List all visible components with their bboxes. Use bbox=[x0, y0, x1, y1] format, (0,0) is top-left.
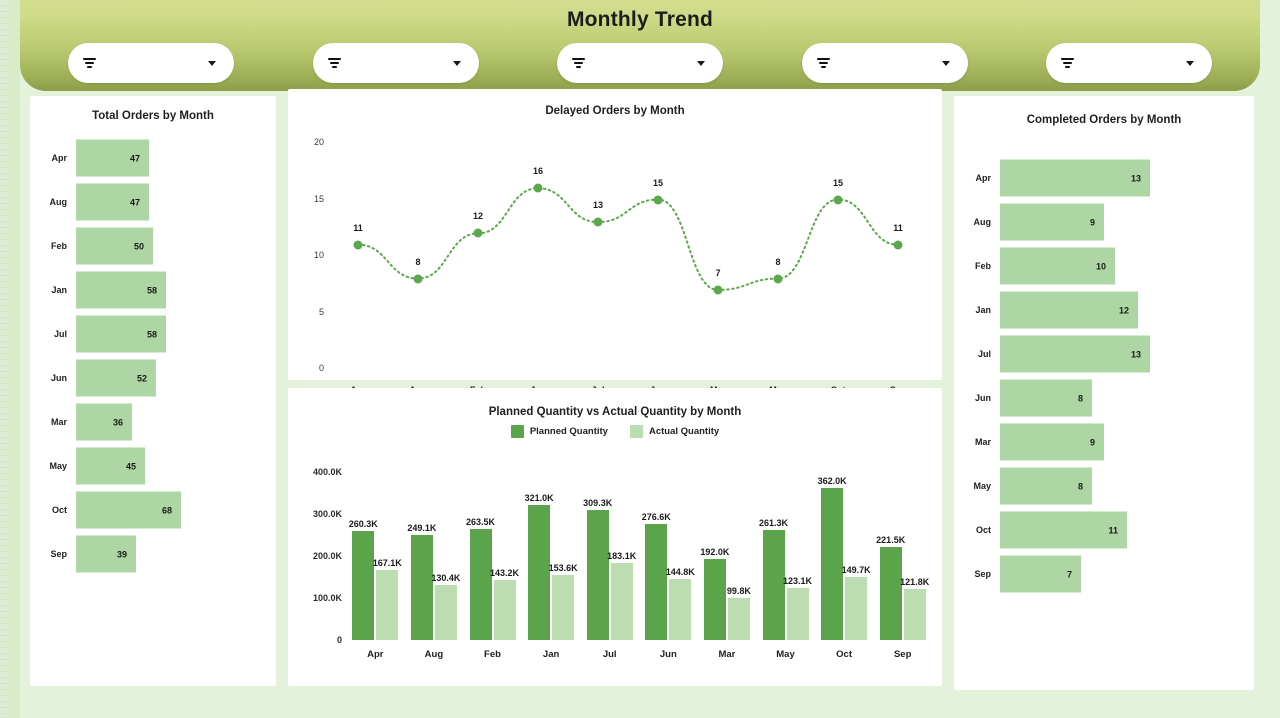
bar-group: 221.5K121.8K bbox=[880, 547, 926, 640]
bar-track: 8 bbox=[1000, 376, 1254, 420]
bar[interactable]: 309.3K bbox=[587, 510, 609, 640]
bar-category-label: Oct bbox=[30, 505, 76, 515]
bar-value-label: 50 bbox=[134, 241, 153, 251]
chart-legend: Planned QuantityActual Quantity bbox=[288, 425, 942, 438]
bar-value-label: 11 bbox=[1108, 525, 1127, 535]
y-axis-tick: 300.0K bbox=[294, 509, 342, 519]
bar[interactable]: 149.7K bbox=[845, 577, 867, 640]
bar-value-label: 261.3K bbox=[759, 518, 788, 528]
bar-row[interactable]: Jul13 bbox=[954, 332, 1254, 376]
line-data-point[interactable] bbox=[534, 184, 543, 193]
bar-row[interactable]: Feb50 bbox=[30, 224, 276, 268]
x-axis-tick: Jan bbox=[543, 649, 559, 660]
bar-row[interactable]: Feb10 bbox=[954, 244, 1254, 288]
bar-value-label: 144.8K bbox=[666, 567, 695, 577]
bar-category-label: Jun bbox=[954, 393, 1000, 403]
bar[interactable]: 99.8K bbox=[728, 598, 750, 640]
panel-title-total-orders: Total Orders by Month bbox=[30, 96, 276, 122]
bar-track: 13 bbox=[1000, 156, 1254, 200]
x-axis-tick: Sep bbox=[894, 649, 911, 660]
bar-value-label: 47 bbox=[130, 153, 149, 163]
dashboard-header: Monthly Trend bbox=[20, 0, 1260, 91]
panel-title-planned-vs-actual: Planned Quantity vs Actual Quantity by M… bbox=[288, 388, 942, 418]
filter-icon bbox=[571, 56, 586, 70]
bar-row[interactable]: Mar9 bbox=[954, 420, 1254, 464]
bar[interactable]: 68 bbox=[76, 492, 181, 529]
bar-row[interactable]: Jun8 bbox=[954, 376, 1254, 420]
bar-value-label: 153.6K bbox=[549, 563, 578, 573]
x-axis-tick: Jul bbox=[603, 649, 617, 660]
bar-value-label: 121.8K bbox=[900, 577, 929, 587]
bar-track: 9 bbox=[1000, 420, 1254, 464]
bar[interactable]: 144.8K bbox=[669, 579, 691, 640]
bar-row[interactable]: Jan12 bbox=[954, 288, 1254, 332]
bar-category-label: Apr bbox=[954, 173, 1000, 183]
bar-category-label: Aug bbox=[954, 217, 1000, 227]
panel-title-delayed-orders: Delayed Orders by Month bbox=[288, 89, 942, 117]
bar[interactable]: 249.1K bbox=[411, 535, 433, 640]
legend-item[interactable]: Planned Quantity bbox=[511, 425, 608, 438]
bar-track: 39 bbox=[76, 532, 276, 576]
bar[interactable]: 260.3K bbox=[352, 531, 374, 640]
bar-track: 50 bbox=[76, 224, 276, 268]
filter-value[interactable] bbox=[1182, 61, 1198, 66]
bar-track: 10 bbox=[1000, 244, 1254, 288]
bar-value-label: 260.3K bbox=[349, 519, 378, 529]
page-edge-strip bbox=[0, 0, 8, 718]
bar-category-label: Apr bbox=[30, 153, 76, 163]
bar-value-label: 221.5K bbox=[876, 535, 905, 545]
bar[interactable]: 39 bbox=[76, 536, 136, 573]
filter-bar bbox=[20, 43, 1260, 85]
chart-planned-vs-actual-quantity: 0100.0K200.0K300.0K400.0K260.3K167.1KApr… bbox=[288, 446, 942, 666]
bar-value-label: 263.5K bbox=[466, 517, 495, 527]
data-point-label: 15 bbox=[833, 178, 843, 188]
bar-group: 309.3K183.1K bbox=[587, 510, 633, 640]
bar-track: 58 bbox=[76, 312, 276, 356]
bar-value-label: 36 bbox=[113, 417, 132, 427]
data-point-label: 7 bbox=[715, 268, 720, 278]
bar-category-label: Sep bbox=[30, 549, 76, 559]
line-data-point[interactable] bbox=[774, 274, 783, 283]
filter-value[interactable] bbox=[449, 61, 465, 66]
bar[interactable]: 130.4K bbox=[435, 585, 457, 640]
line-data-point[interactable] bbox=[654, 195, 663, 204]
chart-delayed-orders-by-month: 0510152011Apr8Aug12Feb16Jan13Jul15Jun7Ma… bbox=[288, 117, 942, 387]
data-point-label: 13 bbox=[593, 200, 603, 210]
bar-category-label: Feb bbox=[30, 241, 76, 251]
bar-value-label: 12 bbox=[1119, 305, 1138, 315]
y-axis-tick: 0 bbox=[294, 635, 342, 645]
data-point-label: 15 bbox=[653, 178, 663, 188]
bar-row[interactable]: Mar36 bbox=[30, 400, 276, 444]
x-axis-tick: May bbox=[776, 649, 794, 660]
bar[interactable]: 9 bbox=[1000, 424, 1104, 461]
y-axis-tick: 400.0K bbox=[294, 467, 342, 477]
bar-row[interactable]: Sep7 bbox=[954, 552, 1254, 596]
bar-value-label: 143.2K bbox=[490, 568, 519, 578]
bar-track: 7 bbox=[1000, 552, 1254, 596]
filter-pill-planner-n[interactable] bbox=[1046, 43, 1212, 83]
bar-value-label: 321.0K bbox=[525, 493, 554, 503]
filter-pill-category[interactable] bbox=[68, 43, 234, 83]
bar-value-label: 68 bbox=[162, 505, 181, 515]
bar-category-label: Sep bbox=[954, 569, 1000, 579]
bar-value-label: 52 bbox=[137, 373, 156, 383]
bar-track: 45 bbox=[76, 444, 276, 488]
bar-category-label: Aug bbox=[30, 197, 76, 207]
bar[interactable]: 9 bbox=[1000, 204, 1104, 241]
panel-total-orders: Total Orders by Month Apr47Aug47Feb50Jan… bbox=[30, 96, 276, 686]
bar-value-label: 13 bbox=[1131, 173, 1150, 183]
chevron-down-icon bbox=[208, 61, 216, 66]
bar-row[interactable]: Apr47 bbox=[30, 136, 276, 180]
bar-category-label: Jul bbox=[954, 349, 1000, 359]
bar-category-label: Feb bbox=[954, 261, 1000, 271]
chevron-down-icon bbox=[942, 61, 950, 66]
bar[interactable]: 58 bbox=[76, 316, 166, 353]
bar[interactable]: 183.1K bbox=[611, 563, 633, 640]
bar[interactable]: 7 bbox=[1000, 556, 1081, 593]
bar-value-label: 10 bbox=[1096, 261, 1115, 271]
bar[interactable]: 192.0K bbox=[704, 559, 726, 640]
bar-value-label: 7 bbox=[1067, 569, 1081, 579]
data-point-label: 12 bbox=[473, 211, 483, 221]
bar[interactable]: 321.0K bbox=[528, 505, 550, 640]
bar-value-label: 362.0K bbox=[818, 476, 847, 486]
bar-category-label: Jan bbox=[954, 305, 1000, 315]
page-title: Monthly Trend bbox=[20, 0, 1260, 32]
bar[interactable]: 47 bbox=[76, 140, 149, 177]
bar[interactable]: 221.5K bbox=[880, 547, 902, 640]
bar-category-label: Jun bbox=[30, 373, 76, 383]
bar-value-label: 47 bbox=[130, 197, 149, 207]
bar-category-label: May bbox=[30, 461, 76, 471]
bar-value-label: 99.8K bbox=[727, 586, 751, 596]
bar-value-label: 58 bbox=[147, 285, 166, 295]
data-point-label: 8 bbox=[775, 257, 780, 267]
bar-row[interactable]: Jan58 bbox=[30, 268, 276, 312]
line-data-point[interactable] bbox=[474, 229, 483, 238]
chart-total-orders-by-month: Apr47Aug47Feb50Jan58Jul58Jun52Mar36May45… bbox=[30, 122, 276, 576]
x-axis-tick: Oct bbox=[836, 649, 852, 660]
bar-row[interactable]: Oct68 bbox=[30, 488, 276, 532]
bar[interactable]: 36 bbox=[76, 404, 132, 441]
bar-track: 47 bbox=[76, 136, 276, 180]
data-point-label: 11 bbox=[353, 223, 363, 233]
bar-category-label: Jan bbox=[30, 285, 76, 295]
filter-pill-status[interactable] bbox=[557, 43, 723, 83]
bar-value-label: 167.1K bbox=[373, 558, 402, 568]
bar-category-label: Jul bbox=[30, 329, 76, 339]
bar-track: 47 bbox=[76, 180, 276, 224]
bar-group: 260.3K167.1K bbox=[352, 531, 398, 640]
bar-value-label: 276.6K bbox=[642, 512, 671, 522]
bar-value-label: 309.3K bbox=[583, 498, 612, 508]
bar[interactable]: 12 bbox=[1000, 292, 1138, 329]
bar-track: 36 bbox=[76, 400, 276, 444]
legend-swatch bbox=[630, 425, 643, 438]
bar-value-label: 249.1K bbox=[407, 523, 436, 533]
bar[interactable]: 123.1K bbox=[787, 588, 809, 640]
bar-category-label: May bbox=[954, 481, 1000, 491]
filter-icon bbox=[816, 56, 831, 70]
legend-swatch bbox=[511, 425, 524, 438]
x-axis-tick: Mar bbox=[718, 649, 735, 660]
y-axis-tick: 100.0K bbox=[294, 593, 342, 603]
x-axis-tick: Jun bbox=[660, 649, 677, 660]
bar[interactable]: 167.1K bbox=[376, 570, 398, 640]
bar-category-label: Oct bbox=[954, 525, 1000, 535]
bar-row[interactable]: Aug47 bbox=[30, 180, 276, 224]
chevron-down-icon bbox=[453, 61, 461, 66]
bar-value-label: 45 bbox=[126, 461, 145, 471]
bar-value-label: 9 bbox=[1090, 217, 1104, 227]
bar-track: 13 bbox=[1000, 332, 1254, 376]
bar-row[interactable]: Apr13 bbox=[954, 156, 1254, 200]
legend-label: Planned Quantity bbox=[530, 426, 608, 437]
bar-value-label: 130.4K bbox=[431, 573, 460, 583]
bar-group: 362.0K149.7K bbox=[821, 488, 867, 640]
data-point-label: 8 bbox=[415, 257, 420, 267]
bar-track: 58 bbox=[76, 268, 276, 312]
chevron-down-icon bbox=[697, 61, 705, 66]
bar-row[interactable]: May45 bbox=[30, 444, 276, 488]
dashboard-page: Monthly Trend Total Orders by Month Apr4… bbox=[0, 0, 1280, 718]
panel-title-completed-orders: Completed Orders by Month bbox=[954, 96, 1254, 126]
bar-value-label: 13 bbox=[1131, 349, 1150, 359]
bar-row[interactable]: Jul58 bbox=[30, 312, 276, 356]
line-data-point[interactable] bbox=[594, 218, 603, 227]
bar[interactable]: 153.6K bbox=[552, 575, 574, 640]
bar[interactable]: 8 bbox=[1000, 380, 1092, 417]
bar-group: 263.5K143.2K bbox=[470, 529, 516, 640]
bar-category-label: Mar bbox=[30, 417, 76, 427]
bar-value-label: 9 bbox=[1090, 437, 1104, 447]
line-series-path bbox=[288, 117, 942, 387]
bar-value-label: 149.7K bbox=[842, 565, 871, 575]
bar-group: 321.0K153.6K bbox=[528, 505, 574, 640]
x-axis-tick: Aug bbox=[425, 649, 443, 660]
bar-value-label: 39 bbox=[117, 549, 136, 559]
filter-value[interactable] bbox=[693, 61, 709, 66]
bar[interactable]: 143.2K bbox=[494, 580, 516, 640]
bar-track: 9 bbox=[1000, 200, 1254, 244]
line-data-point[interactable] bbox=[714, 285, 723, 294]
bar[interactable]: 13 bbox=[1000, 336, 1150, 373]
bar-value-label: 8 bbox=[1078, 393, 1092, 403]
filter-icon bbox=[82, 56, 97, 70]
y-axis-tick: 200.0K bbox=[294, 551, 342, 561]
panel-planned-vs-actual: Planned Quantity vs Actual Quantity by M… bbox=[288, 388, 942, 686]
bar[interactable]: 8 bbox=[1000, 468, 1092, 505]
data-point-label: 11 bbox=[893, 223, 903, 233]
bar[interactable]: 261.3K bbox=[763, 530, 785, 640]
bar-group: 192.0K99.8K bbox=[704, 559, 750, 640]
bar[interactable]: 58 bbox=[76, 272, 166, 309]
bar[interactable]: 50 bbox=[76, 228, 153, 265]
bar-track: 12 bbox=[1000, 288, 1254, 332]
bar[interactable]: 45 bbox=[76, 448, 145, 485]
bar[interactable]: 121.8K bbox=[904, 589, 926, 640]
bar-value-label: 183.1K bbox=[607, 551, 636, 561]
bar-row[interactable]: Aug9 bbox=[954, 200, 1254, 244]
bar-row[interactable]: Sep39 bbox=[30, 532, 276, 576]
chart-completed-orders-by-month: Apr13Aug9Feb10Jan12Jul13Jun8Mar9May8Oct1… bbox=[954, 126, 1254, 596]
bar[interactable]: 10 bbox=[1000, 248, 1115, 285]
bar[interactable]: 362.0K bbox=[821, 488, 843, 640]
bar-track: 52 bbox=[76, 356, 276, 400]
bar[interactable]: 13 bbox=[1000, 160, 1150, 197]
bar-row[interactable]: May8 bbox=[954, 464, 1254, 508]
bar-group: 276.6K144.8K bbox=[645, 524, 691, 640]
filter-pill-priority[interactable] bbox=[802, 43, 968, 83]
bar-row[interactable]: Jun52 bbox=[30, 356, 276, 400]
bar[interactable]: 47 bbox=[76, 184, 149, 221]
bar-value-label: 192.0K bbox=[700, 547, 729, 557]
bar-group: 249.1K130.4K bbox=[411, 535, 457, 640]
bar[interactable]: 263.5K bbox=[470, 529, 492, 640]
data-point-label: 16 bbox=[533, 166, 543, 176]
filter-value[interactable] bbox=[938, 61, 954, 66]
x-axis-tick: Apr bbox=[367, 649, 383, 660]
page-edge-strip-inner bbox=[8, 0, 20, 718]
bar-group: 261.3K123.1K bbox=[763, 530, 809, 640]
bar-category-label: Mar bbox=[954, 437, 1000, 447]
panel-delayed-orders: Delayed Orders by Month 0510152011Apr8Au… bbox=[288, 89, 942, 380]
filter-icon bbox=[327, 56, 342, 70]
bar-value-label: 123.1K bbox=[783, 576, 812, 586]
legend-label: Actual Quantity bbox=[649, 426, 719, 437]
bar-value-label: 58 bbox=[147, 329, 166, 339]
bar-track: 8 bbox=[1000, 464, 1254, 508]
bar-row[interactable]: Oct11 bbox=[954, 508, 1254, 552]
line-data-point[interactable] bbox=[894, 240, 903, 249]
chevron-down-icon bbox=[1186, 61, 1194, 66]
bar[interactable]: 276.6K bbox=[645, 524, 667, 640]
bar-track: 11 bbox=[1000, 508, 1254, 552]
line-data-point[interactable] bbox=[354, 240, 363, 249]
bar[interactable]: 11 bbox=[1000, 512, 1127, 549]
legend-item[interactable]: Actual Quantity bbox=[630, 425, 719, 438]
line-data-point[interactable] bbox=[834, 195, 843, 204]
panel-completed-orders: Completed Orders by Month Apr13Aug9Feb10… bbox=[954, 96, 1254, 690]
filter-icon bbox=[1060, 56, 1075, 70]
bar-track: 68 bbox=[76, 488, 276, 532]
bar-value-label: 8 bbox=[1078, 481, 1092, 491]
filter-pill-plant[interactable] bbox=[313, 43, 479, 83]
line-data-point[interactable] bbox=[414, 274, 423, 283]
filter-value[interactable] bbox=[204, 61, 220, 66]
x-axis-tick: Feb bbox=[484, 649, 501, 660]
bar[interactable]: 52 bbox=[76, 360, 156, 397]
